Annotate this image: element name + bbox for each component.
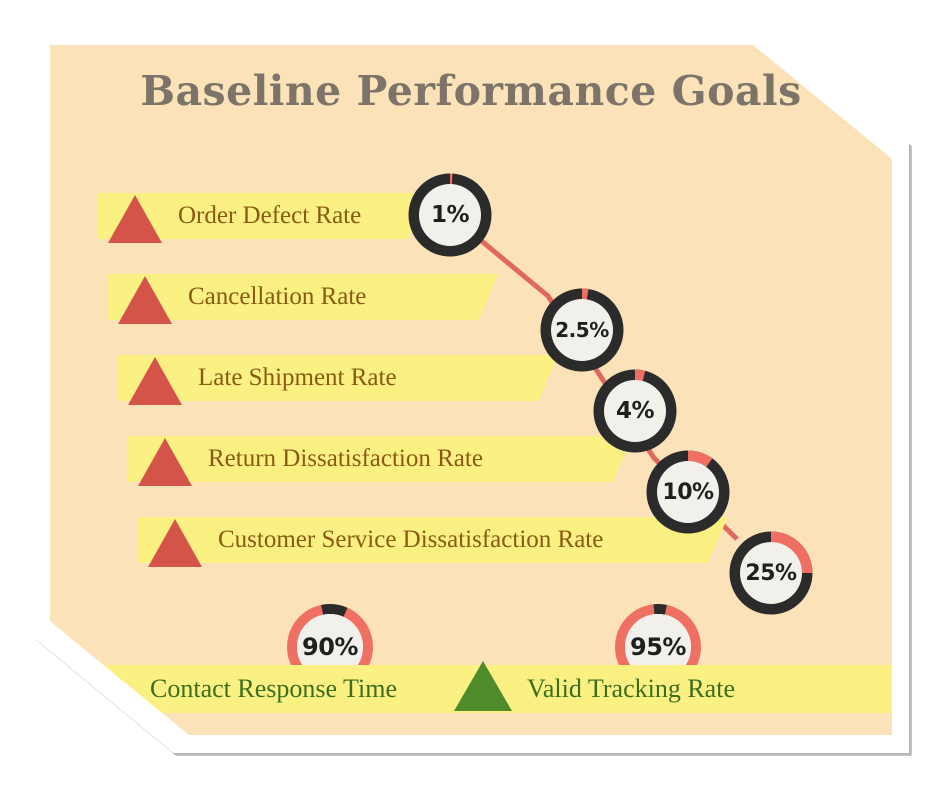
gauge-dial: 2.5% [540, 288, 624, 372]
metric-label: Order Defect Rate [178, 193, 361, 239]
gauge-value: 10% [662, 480, 713, 505]
bottom-metric-label: Contact Response Time [150, 665, 397, 713]
bottom-metric-label: Valid Tracking Rate [527, 665, 735, 713]
gauge-face: 10% [657, 461, 719, 523]
metric-row: Order Defect Rate [98, 193, 428, 239]
metric-row: Late Shipment Rate [118, 355, 558, 401]
gauge-face: 4% [604, 380, 666, 442]
gauge-value: 4% [616, 398, 654, 424]
gauge-value: 25% [745, 561, 796, 586]
metric-label: Return Dissatisfaction Rate [208, 436, 483, 482]
up-triangle-icon [118, 276, 172, 324]
gauge-dial: 25% [729, 531, 813, 615]
metric-label: Customer Service Dissatisfaction Rate [218, 517, 603, 563]
up-triangle-icon [148, 519, 202, 567]
up-triangle-icon [128, 357, 182, 405]
metric-row: Return Dissatisfaction Rate [128, 436, 633, 482]
metric-row: Customer Service Dissatisfaction Rate [138, 517, 728, 563]
metric-row: Cancellation Rate [108, 274, 498, 320]
gauge-value: 1% [431, 202, 469, 228]
gauge-face: 1% [419, 184, 481, 246]
up-triangle-icon [108, 195, 162, 243]
gauge-value: 90% [302, 633, 358, 661]
up-triangle-icon [454, 661, 512, 711]
gauge-dial: 1% [408, 173, 492, 257]
gauge-face: 2.5% [551, 299, 613, 361]
gauge-value: 2.5% [555, 318, 608, 342]
gauge-value: 95% [630, 633, 686, 661]
metric-label: Cancellation Rate [188, 274, 366, 320]
metric-label: Late Shipment Rate [198, 355, 397, 401]
infographic-panel: Baseline Performance Goals Order Defect … [50, 45, 892, 735]
up-triangle-icon [138, 438, 192, 486]
gauge-dial: 4% [593, 369, 677, 453]
gauge-dial: 10% [646, 450, 730, 534]
gauge-face: 25% [740, 542, 802, 604]
